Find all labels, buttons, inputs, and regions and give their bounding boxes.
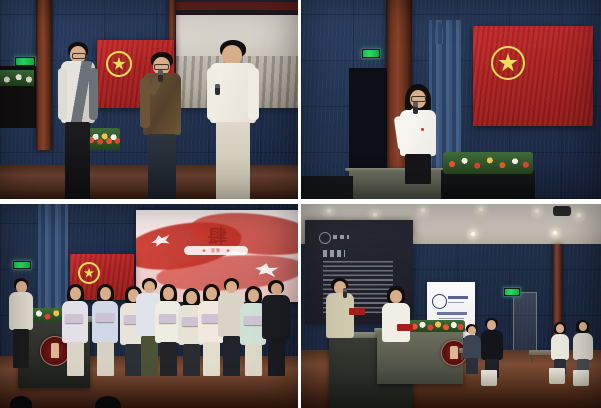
downlight-icon [421,208,425,212]
downlight-icon [471,232,475,236]
slide-banner: 宣誓 [184,246,248,255]
curtain-tie [435,22,443,44]
wood-column [36,0,52,150]
plastic-stool [549,368,565,384]
slide-banner-text: 宣誓 [211,248,221,254]
slide-big-character: 肆 [208,222,227,249]
speaker [397,84,439,184]
banner-footer-text [439,318,464,319]
plastic-stool [481,370,497,386]
microphone-icon [215,84,220,95]
university-seal-icon [432,294,447,309]
student-left [56,42,100,199]
seated-student-3 [551,322,569,374]
communist-youth-league-flag [473,26,593,126]
slide-logo-icon [319,232,331,244]
glasses-icon [72,53,86,59]
seated-student-2 [481,318,503,378]
seated-student-4 [573,320,593,376]
banner-body-text [437,312,467,315]
glasses-icon [411,96,426,102]
microphone-icon [413,102,418,114]
student-right [208,40,262,199]
emergency-exit-sign [12,260,32,270]
banner-title-text [448,296,468,299]
ceiling-projector [553,206,571,216]
downlight-icon [535,209,539,213]
party-badge [421,128,424,131]
microphone-icon [158,70,163,82]
door-frame [513,292,537,358]
downlight-icon [327,209,331,213]
host-right [381,286,411,342]
downlight-icon [553,231,557,235]
slide-logo-text [333,235,349,239]
flower-planter [441,170,535,199]
wall-niche [349,68,387,178]
slide-heading [323,250,345,257]
pledge-card [65,314,83,323]
downlight-icon [373,213,377,217]
flag-star-emblem [78,262,100,284]
potted-plant [0,70,34,86]
downlight-icon [577,213,581,217]
microphone-icon [343,288,347,298]
flower-arrangement [409,320,465,332]
pledge-card [159,314,176,323]
flag-star-emblem [491,46,525,80]
pledge-card [244,316,262,325]
pledge-card [96,313,114,322]
collage-panel-top-left[interactable] [0,0,298,199]
list-item [262,280,290,376]
photo-collage: 肆 宣誓 [0,0,601,408]
collage-panel-top-right[interactable] [301,0,601,199]
red-folder [397,324,413,331]
flower-arrangement [443,152,533,174]
red-folder [349,308,365,315]
emergency-exit-sign [361,48,381,59]
student-center [139,52,187,199]
collage-panel-bottom-right[interactable] [301,204,601,408]
downlight-icon [479,207,483,211]
emergency-exit-sign [503,287,521,297]
screen-banner-strip [176,2,298,10]
collage-panel-bottom-left[interactable]: 肆 宣誓 [0,204,298,408]
stage-shadow [301,176,353,199]
seated-student-1 [463,324,481,374]
list-item [62,284,88,376]
plastic-stool [573,370,589,386]
audience-silhouette [10,396,32,408]
list-item [92,284,118,376]
banner-subtitle-text [448,302,464,303]
flag-star-emblem [106,51,132,77]
student-presenter [8,278,34,368]
